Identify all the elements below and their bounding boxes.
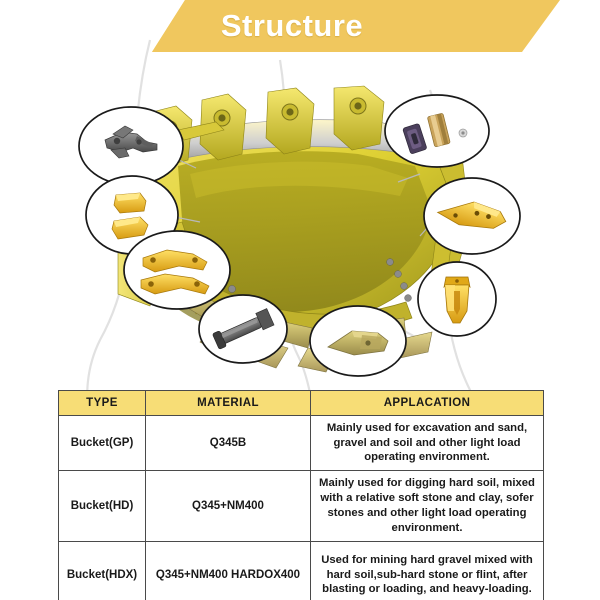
- callout-pins-bushings: [385, 95, 489, 167]
- table-header-row: TYPE MATERIAL APPLACATION: [59, 391, 544, 416]
- cell-material: Q345+NM400: [146, 471, 311, 542]
- table-row: Bucket(GP) Q345B Mainly used for excavat…: [59, 416, 544, 471]
- title-banner: Structure: [0, 0, 600, 56]
- table-row: Bucket(HD) Q345+NM400 Mainly used for di…: [59, 471, 544, 542]
- callout-bucket-tooth: [418, 262, 496, 336]
- specification-table: TYPE MATERIAL APPLACATION Bucket(GP) Q34…: [58, 390, 544, 600]
- cell-type: Bucket(GP): [59, 416, 146, 471]
- table-header-material: MATERIAL: [146, 391, 311, 416]
- table-header-application: APPLACATION: [311, 391, 544, 416]
- cell-material: Q345+NM400 HARDOX400: [146, 542, 311, 600]
- cell-application: Used for mining hard gravel mixed with h…: [311, 542, 544, 600]
- page-root: Structure: [0, 0, 600, 600]
- page-title: Structure: [0, 0, 600, 52]
- cell-type: Bucket(HD): [59, 471, 146, 542]
- bucket-illustration: [0, 56, 600, 386]
- cell-application: Mainly used for digging hard soil, mixed…: [311, 471, 544, 542]
- callout-lock-pin: [199, 295, 287, 363]
- cell-application: Mainly used for excavation and sand, gra…: [311, 416, 544, 471]
- callout-bracket-assembly: [79, 107, 183, 185]
- cell-type: Bucket(HDX): [59, 542, 146, 600]
- table-row: Bucket(HDX) Q345+NM400 HARDOX400 Used fo…: [59, 542, 544, 600]
- table-header-type: TYPE: [59, 391, 146, 416]
- cell-material: Q345B: [146, 416, 311, 471]
- callout-side-cutter: [424, 178, 520, 254]
- callout-side-cutter-plates: [124, 231, 230, 309]
- callout-tooth-adapter: [310, 306, 406, 376]
